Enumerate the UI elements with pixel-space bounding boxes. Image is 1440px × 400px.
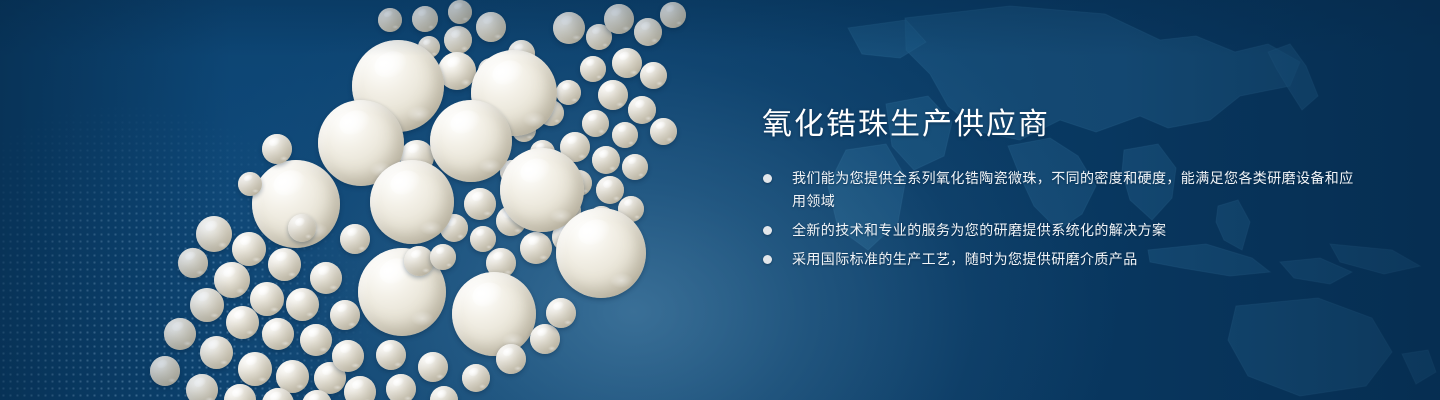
bullet-dot-icon (763, 226, 772, 235)
feature-text: 我们能为您提供全系列氧化锆陶瓷微珠，不同的密度和硬度，能满足您各类研磨设备和应用… (792, 167, 1362, 213)
feature-text: 全新的技术和专业的服务为您的研磨提供系统化的解决方案 (792, 219, 1362, 242)
bullet-dot-icon (763, 174, 772, 183)
bullet-dot-icon (763, 255, 772, 264)
product-hero-banner: 氧化锆珠生产供应商 我们能为您提供全系列氧化锆陶瓷微珠，不同的密度和硬度，能满足… (0, 0, 1440, 400)
feature-list-item: 我们能为您提供全系列氧化锆陶瓷微珠，不同的密度和硬度，能满足您各类研磨设备和应用… (762, 167, 1362, 213)
banner-title: 氧化锆珠生产供应商 (762, 105, 1362, 145)
feature-list: 我们能为您提供全系列氧化锆陶瓷微珠，不同的密度和硬度，能满足您各类研磨设备和应用… (762, 167, 1362, 271)
banner-content: 氧化锆珠生产供应商 我们能为您提供全系列氧化锆陶瓷微珠，不同的密度和硬度，能满足… (762, 105, 1362, 277)
feature-list-item: 采用国际标准的生产工艺，随时为您提供研磨介质产品 (762, 248, 1362, 271)
zirconia-bead-cluster-image (0, 0, 760, 400)
feature-text: 采用国际标准的生产工艺，随时为您提供研磨介质产品 (792, 248, 1362, 271)
feature-list-item: 全新的技术和专业的服务为您的研磨提供系统化的解决方案 (762, 219, 1362, 242)
